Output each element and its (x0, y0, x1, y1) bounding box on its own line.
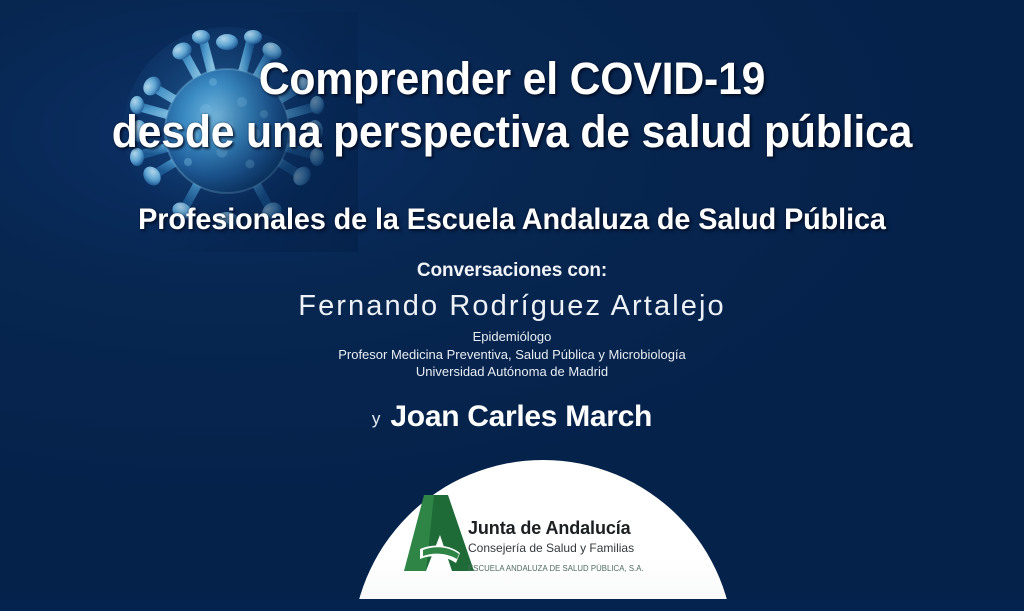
subtitle: Profesionales de la Escuela Andaluza de … (20, 203, 1003, 237)
junta-logo: Junta de Andalucía Consejería de Salud y… (352, 460, 734, 599)
logo-subtitle: Consejería de Salud y Familias (468, 540, 730, 556)
credential-line-2: Profesor Medicina Preventiva, Salud Públ… (0, 346, 1024, 364)
primary-speaker-name: Fernando Rodríguez Artalejo (0, 290, 1024, 323)
presentation-slide: Comprender el COVID-19 desde una perspec… (0, 0, 1024, 611)
junta-de-andalucia-a-icon (390, 493, 480, 573)
credential-line-3: Universidad Autónoma de Madrid (0, 363, 1024, 381)
logo-organization: ESCUELA ANDALUZA DE SALUD PÚBLICA, S.A. (468, 564, 722, 573)
secondary-speaker: yJoan Carles March (0, 400, 1024, 434)
credential-line-1: Epidemiólogo (0, 328, 1024, 346)
page-title: Comprender el COVID-19 desde una perspec… (26, 52, 999, 158)
conjunction-label: y (372, 409, 381, 428)
logo-text-block: Junta de Andalucía Consejería de Salud y… (468, 518, 730, 573)
headline-line-1: Comprender el COVID-19 (26, 52, 999, 105)
speaker-credentials: Epidemiólogo Profesor Medicina Preventiv… (0, 328, 1024, 381)
logo-title: Junta de Andalucía (468, 518, 730, 539)
conversation-label: Conversaciones con: (0, 260, 1024, 282)
headline-line-2: desde una perspectiva de salud pública (26, 105, 999, 158)
secondary-speaker-name: Joan Carles March (390, 400, 652, 433)
bottom-strip (0, 599, 1024, 611)
